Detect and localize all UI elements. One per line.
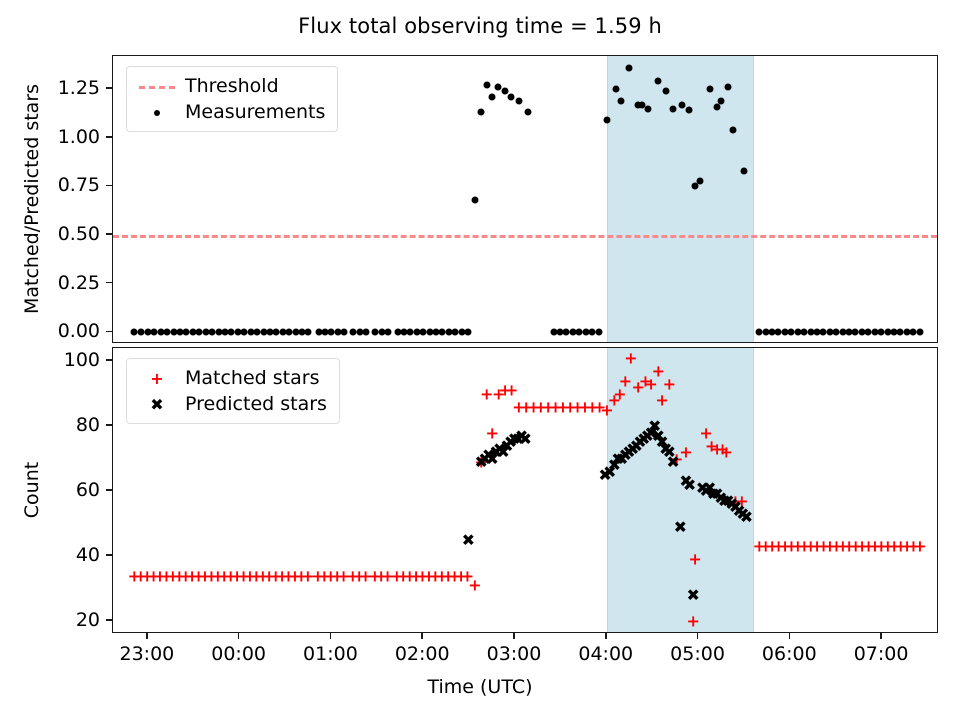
- matched-star-point: +: [578, 400, 591, 413]
- matched-star-point: +: [868, 540, 881, 553]
- measurement-point: [328, 329, 335, 336]
- predicted-star-point: ✖: [508, 433, 521, 446]
- legend-entry-matched: + Matched stars: [135, 365, 327, 391]
- measurement-point: [260, 329, 267, 336]
- matched-star-point: +: [275, 569, 288, 582]
- matched-star-point: +: [301, 569, 314, 582]
- shaded-interval-top: [607, 56, 754, 342]
- measurement-point: [871, 329, 878, 336]
- cross-marker-icon: ✖: [135, 395, 179, 414]
- matched-star-point: +: [791, 540, 804, 553]
- predicted-star-point: ✖: [475, 455, 488, 468]
- ytick-mark: [106, 185, 112, 187]
- xtick-mark: [421, 633, 423, 639]
- matched-star-point: +: [836, 540, 849, 553]
- measurement-point: [138, 329, 145, 336]
- matched-star-point: +: [374, 569, 387, 582]
- measurement-point: [589, 329, 596, 336]
- measurement-point: [433, 329, 440, 336]
- matched-star-point: +: [134, 569, 147, 582]
- measurement-point: [846, 329, 853, 336]
- matched-star-point: +: [823, 540, 836, 553]
- matched-star-point: +: [759, 540, 772, 553]
- predicted-star-point: ✖: [519, 433, 532, 446]
- matched-star-point: +: [243, 569, 256, 582]
- measurement-point: [183, 329, 190, 336]
- matched-star-point: +: [330, 569, 343, 582]
- predicted-star-point: ✖: [478, 452, 491, 465]
- measurement-point: [322, 329, 329, 336]
- measurement-point: [176, 329, 183, 336]
- xtick-label: 05:00: [670, 643, 725, 665]
- xtick-label: 03:00: [487, 643, 542, 665]
- measurement-point: [916, 329, 923, 336]
- matched-star-point: +: [881, 540, 894, 553]
- measurement-point: [407, 329, 414, 336]
- measurement-point: [209, 329, 216, 336]
- shaded-interval-bottom: [607, 348, 754, 632]
- predicted-star-point: ✖: [462, 533, 475, 546]
- measurement-point: [478, 109, 485, 116]
- ytick-mark: [106, 282, 112, 284]
- measurement-point: [400, 329, 407, 336]
- measurement-point: [151, 329, 158, 336]
- measurement-point: [813, 329, 820, 336]
- ytick-mark: [106, 331, 112, 333]
- measurement-point: [439, 329, 446, 336]
- matched-star-point: +: [288, 569, 301, 582]
- measurement-point: [465, 329, 472, 336]
- ytick-mark: [106, 136, 112, 138]
- matched-star-point: +: [269, 569, 282, 582]
- matched-star-point: +: [390, 569, 403, 582]
- measurement-point: [241, 329, 248, 336]
- matched-star-point: +: [166, 569, 179, 582]
- chart-title: Flux total observing time = 1.59 h: [0, 14, 960, 38]
- matched-star-point: +: [785, 540, 798, 553]
- matched-star-point: +: [448, 569, 461, 582]
- measurement-point: [413, 329, 420, 336]
- measurement-point: [189, 329, 196, 336]
- matched-star-point: +: [549, 400, 562, 413]
- matched-star-point: +: [492, 387, 505, 400]
- ytick-mark: [106, 489, 112, 491]
- xtick-label: 00:00: [211, 643, 266, 665]
- measurement-point: [228, 329, 235, 336]
- measurement-point: [897, 329, 904, 336]
- matched-star-point: +: [505, 384, 518, 397]
- matched-star-point: +: [368, 569, 381, 582]
- measurement-point: [884, 329, 891, 336]
- matched-star-point: +: [422, 569, 435, 582]
- measurement-point: [215, 329, 222, 336]
- ytick-label: 60: [46, 479, 100, 501]
- measurement-point: [556, 329, 563, 336]
- matched-star-point: +: [403, 569, 416, 582]
- measurement-point: [576, 329, 583, 336]
- predicted-star-point: ✖: [511, 433, 524, 446]
- ytick-mark: [106, 359, 112, 361]
- xtick-label: 04:00: [578, 643, 633, 665]
- matched-star-point: +: [586, 400, 599, 413]
- ytick-mark: [106, 619, 112, 621]
- measurement-point: [144, 329, 151, 336]
- count-panel-legend: + Matched stars ✖ Predicted stars: [126, 358, 340, 424]
- measurement-point: [350, 329, 357, 336]
- measurement-point: [563, 329, 570, 336]
- ratio-panel-legend: Threshold Measurements: [126, 66, 338, 132]
- matched-star-point: +: [224, 569, 237, 582]
- xtick-mark: [238, 633, 240, 639]
- ytick-label: 0.50: [46, 223, 100, 245]
- ytick-label: 1.25: [46, 77, 100, 99]
- measurement-point: [801, 329, 808, 336]
- matched-star-point: +: [894, 540, 907, 553]
- ytick-mark: [106, 87, 112, 89]
- measurement-point: [781, 329, 788, 336]
- measurement-point: [286, 329, 293, 336]
- measurement-point: [234, 329, 241, 336]
- ratio-panel-ylabel: Matched/Predicted stars: [21, 84, 43, 314]
- xtick-mark: [146, 633, 148, 639]
- xtick-mark: [697, 633, 699, 639]
- matched-star-point: +: [454, 569, 467, 582]
- matched-star-point: +: [900, 540, 913, 553]
- matched-star-point: +: [435, 569, 448, 582]
- matched-star-point: +: [772, 540, 785, 553]
- matched-star-point: +: [359, 569, 372, 582]
- measurement-point: [157, 329, 164, 336]
- matched-star-point: +: [160, 569, 173, 582]
- matched-star-point: +: [855, 540, 868, 553]
- measurement-point: [254, 329, 261, 336]
- matched-star-point: +: [198, 569, 211, 582]
- xtick-mark: [880, 633, 882, 639]
- matched-star-point: +: [416, 569, 429, 582]
- matched-star-point: +: [461, 569, 474, 582]
- matched-star-point: +: [147, 569, 160, 582]
- ytick-mark: [106, 554, 112, 556]
- measurement-point: [826, 329, 833, 336]
- legend-label-matched: Matched stars: [179, 367, 319, 389]
- measurement-point: [202, 329, 209, 336]
- matched-star-point: +: [571, 400, 584, 413]
- predicted-star-point: ✖: [489, 446, 502, 459]
- predicted-star-point: ✖: [486, 452, 499, 465]
- matched-star-point: +: [192, 569, 205, 582]
- ytick-label: 0.00: [46, 320, 100, 342]
- ytick-label: 1.00: [46, 126, 100, 148]
- xtick-label: 23:00: [119, 643, 174, 665]
- legend-entry-measurements: Measurements: [135, 99, 325, 125]
- predicted-star-point: ✖: [515, 429, 528, 442]
- ytick-label: 0.75: [46, 174, 100, 196]
- matched-star-point: +: [311, 569, 324, 582]
- measurement-point: [794, 329, 801, 336]
- x-axis-label: Time (UTC): [0, 676, 960, 698]
- measurement-point: [501, 88, 508, 95]
- measurement-point: [483, 82, 490, 89]
- measurement-point: [550, 329, 557, 336]
- matched-star-point: +: [778, 540, 791, 553]
- measurement-point: [903, 329, 910, 336]
- matched-star-point: +: [534, 400, 547, 413]
- measurement-point: [756, 329, 763, 336]
- matched-star-point: +: [593, 400, 606, 413]
- matched-star-point: +: [804, 540, 817, 553]
- xtick-label: 06:00: [762, 643, 817, 665]
- ytick-label: 40: [46, 544, 100, 566]
- measurement-point: [524, 109, 531, 116]
- dot-marker-icon: [135, 103, 179, 122]
- matched-star-point: +: [230, 569, 243, 582]
- measurement-point: [363, 329, 370, 336]
- ytick-label: 20: [46, 609, 100, 631]
- matched-star-point: +: [153, 569, 166, 582]
- matched-star-point: +: [318, 569, 331, 582]
- matched-star-point: +: [397, 569, 410, 582]
- matched-star-point: +: [498, 384, 511, 397]
- measurement-point: [788, 329, 795, 336]
- matched-star-point: +: [810, 540, 823, 553]
- measurement-point: [858, 329, 865, 336]
- matched-star-point: +: [468, 579, 481, 592]
- ytick-mark: [106, 424, 112, 426]
- measurement-point: [852, 329, 859, 336]
- matched-star-point: +: [211, 569, 224, 582]
- matched-star-point: +: [913, 540, 926, 553]
- measurement-point: [891, 329, 898, 336]
- figure-canvas: Flux total observing time = 1.59 h Match…: [0, 0, 960, 720]
- measurement-point: [458, 329, 465, 336]
- matched-star-point: +: [527, 400, 540, 413]
- measurement-point: [279, 329, 286, 336]
- xtick-mark: [513, 633, 515, 639]
- measurement-point: [420, 329, 427, 336]
- predicted-star-point: ✖: [493, 442, 506, 455]
- measurement-point: [865, 329, 872, 336]
- matched-star-point: +: [849, 540, 862, 553]
- matched-star-point: +: [753, 540, 766, 553]
- measurement-point: [807, 329, 814, 336]
- ytick-label: 100: [46, 349, 100, 371]
- xtick-label: 02:00: [395, 643, 450, 665]
- threshold-line: [113, 235, 937, 238]
- matched-star-point: +: [798, 540, 811, 553]
- measurement-point: [489, 93, 496, 100]
- measurement-point: [515, 97, 522, 104]
- xtick-mark: [330, 633, 332, 639]
- measurement-point: [878, 329, 885, 336]
- measurement-point: [196, 329, 203, 336]
- measurement-point: [131, 329, 138, 336]
- xtick-label: 07:00: [854, 643, 909, 665]
- legend-label-threshold: Threshold: [179, 75, 279, 97]
- matched-star-point: +: [429, 569, 442, 582]
- measurement-point: [315, 329, 322, 336]
- measurement-point: [299, 329, 306, 336]
- matched-star-point: +: [907, 540, 920, 553]
- measurement-point: [775, 329, 782, 336]
- legend-entry-threshold: Threshold: [135, 73, 325, 99]
- xtick-mark: [605, 633, 607, 639]
- measurement-point: [820, 329, 827, 336]
- matched-star-point: +: [564, 400, 577, 413]
- matched-star-point: +: [486, 426, 499, 439]
- measurement-point: [910, 329, 917, 336]
- matched-star-point: +: [205, 569, 218, 582]
- predicted-star-point: ✖: [500, 439, 513, 452]
- legend-label-predicted: Predicted stars: [179, 393, 327, 415]
- matched-star-point: +: [817, 540, 830, 553]
- measurement-point: [595, 329, 602, 336]
- measurement-point: [334, 329, 341, 336]
- predicted-star-point: ✖: [504, 436, 517, 449]
- matched-star-point: +: [282, 569, 295, 582]
- measurement-point: [839, 329, 846, 336]
- matched-star-point: +: [409, 569, 422, 582]
- matched-star-point: +: [441, 569, 454, 582]
- matched-star-point: +: [237, 569, 250, 582]
- matched-star-point: +: [263, 569, 276, 582]
- measurement-point: [266, 329, 273, 336]
- measurement-point: [582, 329, 589, 336]
- measurement-point: [378, 329, 385, 336]
- ytick-mark: [106, 233, 112, 235]
- matched-star-point: +: [542, 400, 555, 413]
- matched-star-point: +: [128, 569, 141, 582]
- measurement-point: [833, 329, 840, 336]
- measurement-point: [292, 329, 299, 336]
- measurement-point: [426, 329, 433, 336]
- measurement-point: [394, 329, 401, 336]
- matched-star-point: +: [346, 569, 359, 582]
- matched-star-point: +: [173, 569, 186, 582]
- measurement-point: [372, 329, 379, 336]
- matched-star-point: +: [765, 540, 778, 553]
- ytick-label: 80: [46, 414, 100, 436]
- measurement-point: [247, 329, 254, 336]
- matched-star-point: +: [556, 400, 569, 413]
- ytick-label: 0.25: [46, 272, 100, 294]
- matched-star-point: +: [475, 455, 488, 468]
- plus-marker-icon: +: [135, 369, 179, 388]
- legend-label-measurements: Measurements: [179, 101, 325, 123]
- measurement-point: [385, 329, 392, 336]
- measurement-point: [273, 329, 280, 336]
- measurement-point: [768, 329, 775, 336]
- predicted-star-point: ✖: [497, 446, 510, 459]
- measurement-point: [221, 329, 228, 336]
- dashed-line-icon: [135, 77, 179, 96]
- matched-star-point: +: [185, 569, 198, 582]
- matched-star-point: +: [830, 540, 843, 553]
- measurement-point: [305, 329, 312, 336]
- xtick-mark: [789, 633, 791, 639]
- measurement-point: [508, 93, 515, 100]
- measurement-point: [762, 329, 769, 336]
- measurement-point: [452, 329, 459, 336]
- matched-star-point: +: [843, 540, 856, 553]
- xtick-label: 01:00: [303, 643, 358, 665]
- matched-star-point: +: [352, 569, 365, 582]
- legend-entry-predicted: ✖ Predicted stars: [135, 391, 327, 417]
- measurement-point: [341, 329, 348, 336]
- matched-star-point: +: [250, 569, 263, 582]
- matched-star-point: +: [140, 569, 153, 582]
- measurement-point: [164, 329, 171, 336]
- measurement-point: [495, 84, 502, 91]
- measurement-point: [471, 197, 478, 204]
- measurement-point: [356, 329, 363, 336]
- matched-star-point: +: [256, 569, 269, 582]
- matched-star-point: +: [520, 400, 533, 413]
- matched-star-point: +: [512, 400, 525, 413]
- matched-star-point: +: [218, 569, 231, 582]
- count-panel-ylabel: Count: [21, 462, 43, 518]
- measurement-point: [569, 329, 576, 336]
- predicted-star-point: ✖: [482, 449, 495, 462]
- matched-star-point: +: [862, 540, 875, 553]
- measurement-point: [170, 329, 177, 336]
- matched-star-point: +: [381, 569, 394, 582]
- matched-star-point: +: [295, 569, 308, 582]
- matched-star-point: +: [875, 540, 888, 553]
- matched-star-point: +: [179, 569, 192, 582]
- matched-star-point: +: [324, 569, 337, 582]
- measurement-point: [445, 329, 452, 336]
- matched-star-point: +: [888, 540, 901, 553]
- matched-star-point: +: [480, 387, 493, 400]
- matched-star-point: +: [337, 569, 350, 582]
